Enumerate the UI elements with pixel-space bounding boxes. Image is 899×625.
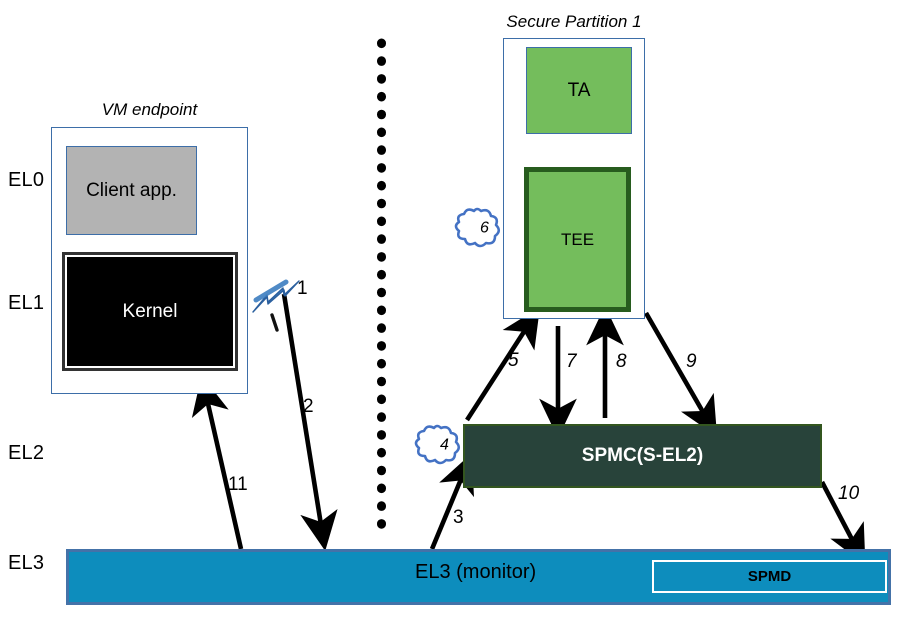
- step-label-3: 3: [453, 507, 464, 529]
- el3-monitor-label: EL3 (monitor): [415, 561, 536, 584]
- client-app-block: Client app.: [66, 146, 197, 235]
- step-label-11: 11: [228, 474, 248, 496]
- step-label-1: 1: [297, 278, 308, 300]
- step-label-2: 2: [303, 396, 314, 418]
- step-label-5: 5: [508, 350, 519, 372]
- arrow-step-5: [467, 324, 529, 420]
- callout-6-label: 6: [468, 219, 501, 237]
- tee-block: TEE: [524, 167, 631, 312]
- arrow-step-9: [646, 313, 707, 419]
- kernel-label: Kernel: [65, 255, 235, 368]
- callout-6: 6: [468, 210, 501, 247]
- arrow-step-11: [206, 395, 241, 549]
- diagram-canvas: EL0 EL1 EL2 EL3 VM endpoint Client app. …: [0, 0, 899, 625]
- secure-partition-title: Secure Partition 1: [503, 12, 645, 32]
- step-label-7: 7: [566, 351, 577, 373]
- step-label-8: 8: [616, 351, 627, 373]
- exception-level-label-el3: EL3: [8, 552, 44, 575]
- lightning-bolt-icon: [253, 281, 299, 330]
- step-label-10: 10: [838, 483, 859, 505]
- callout-4-label: 4: [428, 436, 461, 454]
- spmd-block: SPMD: [652, 560, 887, 593]
- exception-level-label-el1: EL1: [8, 292, 44, 315]
- spmc-block: SPMC(S-EL2): [463, 424, 822, 488]
- kernel-block: Kernel: [62, 252, 238, 371]
- step-label-9: 9: [686, 351, 697, 373]
- callout-4: 4: [428, 427, 461, 464]
- exception-level-label-el2: EL2: [8, 442, 44, 465]
- vm-endpoint-title: VM endpoint: [51, 100, 248, 120]
- exception-level-label-el0: EL0: [8, 169, 44, 192]
- trusted-application-block: TA: [526, 47, 632, 134]
